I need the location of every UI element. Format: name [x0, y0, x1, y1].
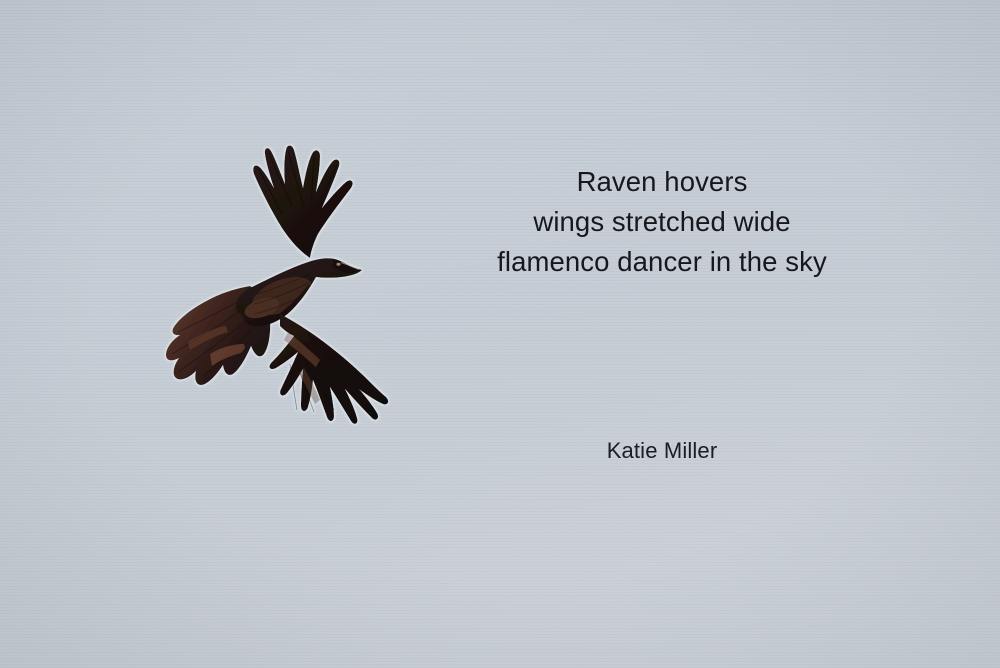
- author-byline: Katie Miller: [432, 436, 892, 466]
- poem-line-1: Raven hovers: [432, 162, 892, 202]
- raven-silhouette: [158, 118, 398, 438]
- raven-upper-wing: [253, 146, 352, 259]
- sky-background: [0, 0, 1000, 668]
- raven-nostril-highlight: [336, 263, 340, 266]
- raven-body-group: [166, 146, 388, 424]
- poem-text: Raven hovers wings stretched wide flamen…: [432, 162, 892, 282]
- poem-line-2: wings stretched wide: [432, 202, 892, 242]
- poem-line-3: flamenco dancer in the sky: [432, 242, 892, 282]
- raven-lower-wing: [269, 314, 388, 424]
- photo-canvas: Raven hovers wings stretched wide flamen…: [0, 0, 1000, 668]
